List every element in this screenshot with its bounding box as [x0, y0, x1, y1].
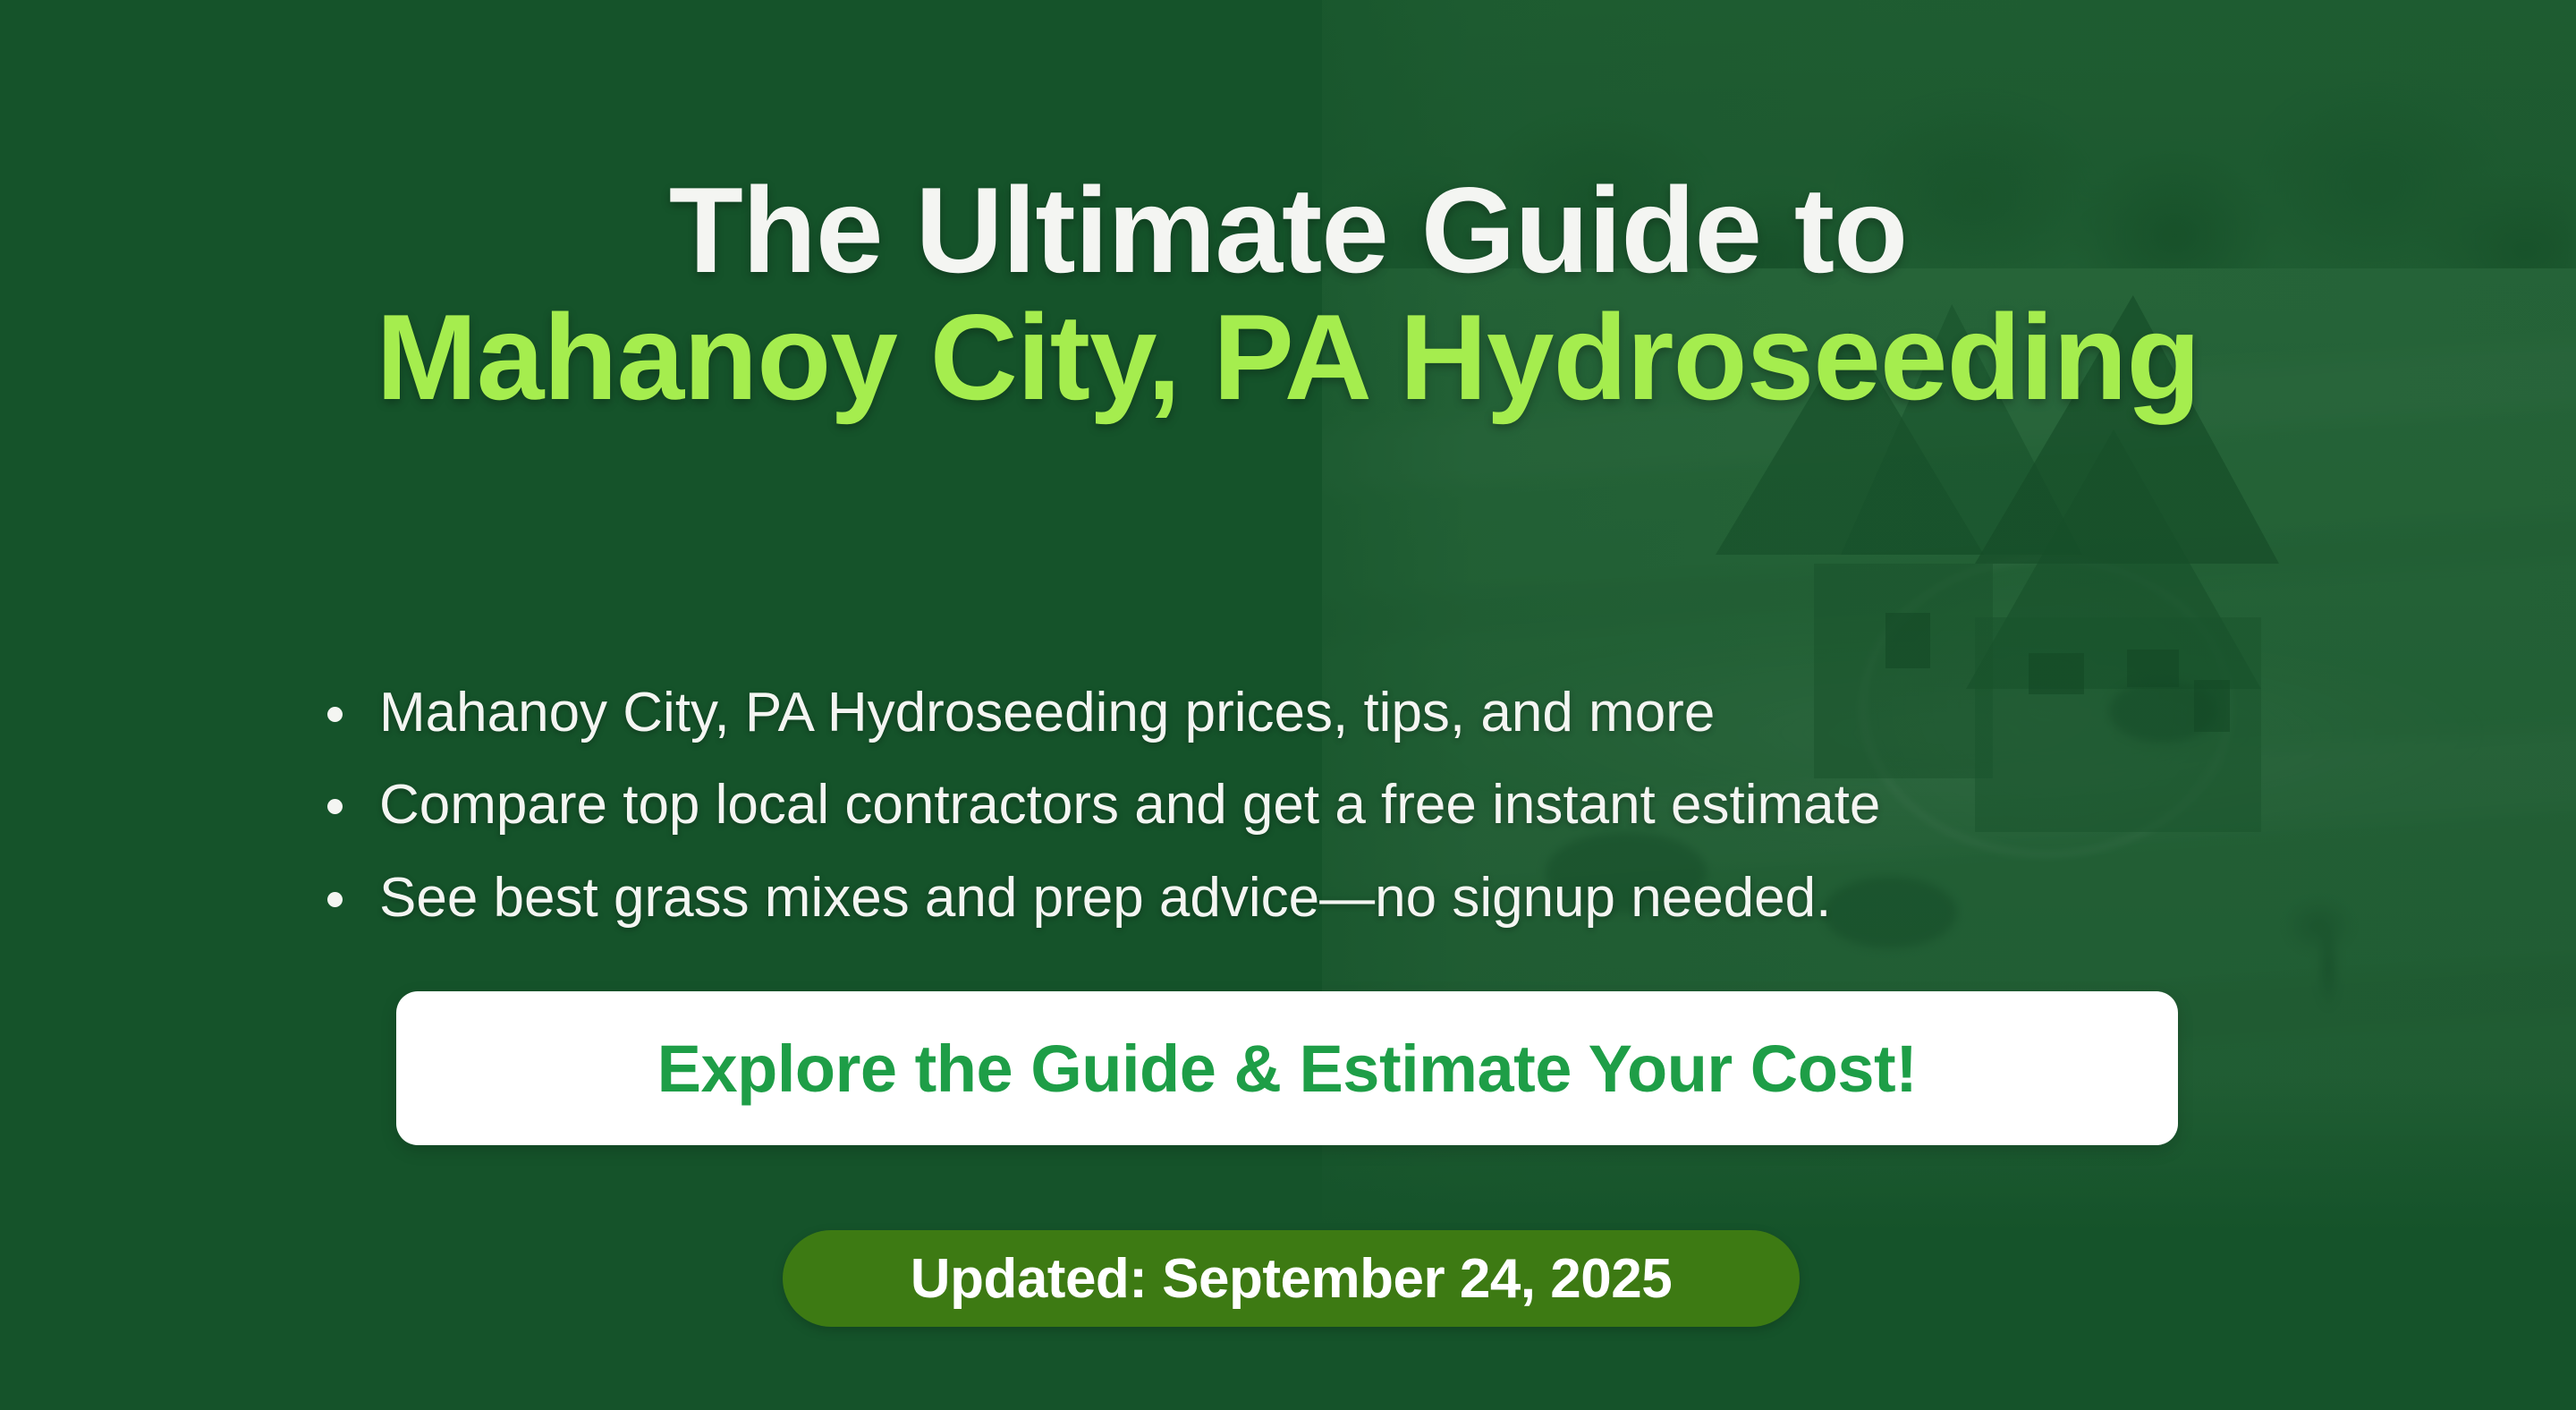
hero-banner: The Ultimate Guide toMahanoy City, PA Hy… — [0, 0, 2576, 1410]
banner-content: The Ultimate Guide toMahanoy City, PA Hy… — [0, 0, 2576, 1410]
list-item-label: Mahanoy City, PA Hydroseeding prices, ti… — [379, 682, 1715, 743]
list-item-label: Compare top local contractors and get a … — [379, 774, 1880, 836]
list-item: Mahanoy City, PA Hydroseeding prices, ti… — [315, 682, 1880, 743]
page-title: The Ultimate Guide toMahanoy City, PA Hy… — [0, 167, 2576, 420]
last-updated-badge: Updated: September 24, 2025 — [783, 1230, 1800, 1327]
list-item: Compare top local contractors and get a … — [315, 774, 1880, 836]
explore-guide-cta-button[interactable]: Explore the Guide & Estimate Your Cost! — [396, 991, 2178, 1145]
list-item-label: See best grass mixes and prep advice—no … — [379, 867, 1831, 929]
list-item: See best grass mixes and prep advice—no … — [315, 867, 1880, 929]
headline-line-accent: Mahanoy City, PA Hydroseeding — [107, 294, 2469, 420]
benefits-list: Mahanoy City, PA Hydroseeding prices, ti… — [315, 682, 1880, 929]
headline-line-primary: The Ultimate Guide to — [669, 162, 1907, 298]
